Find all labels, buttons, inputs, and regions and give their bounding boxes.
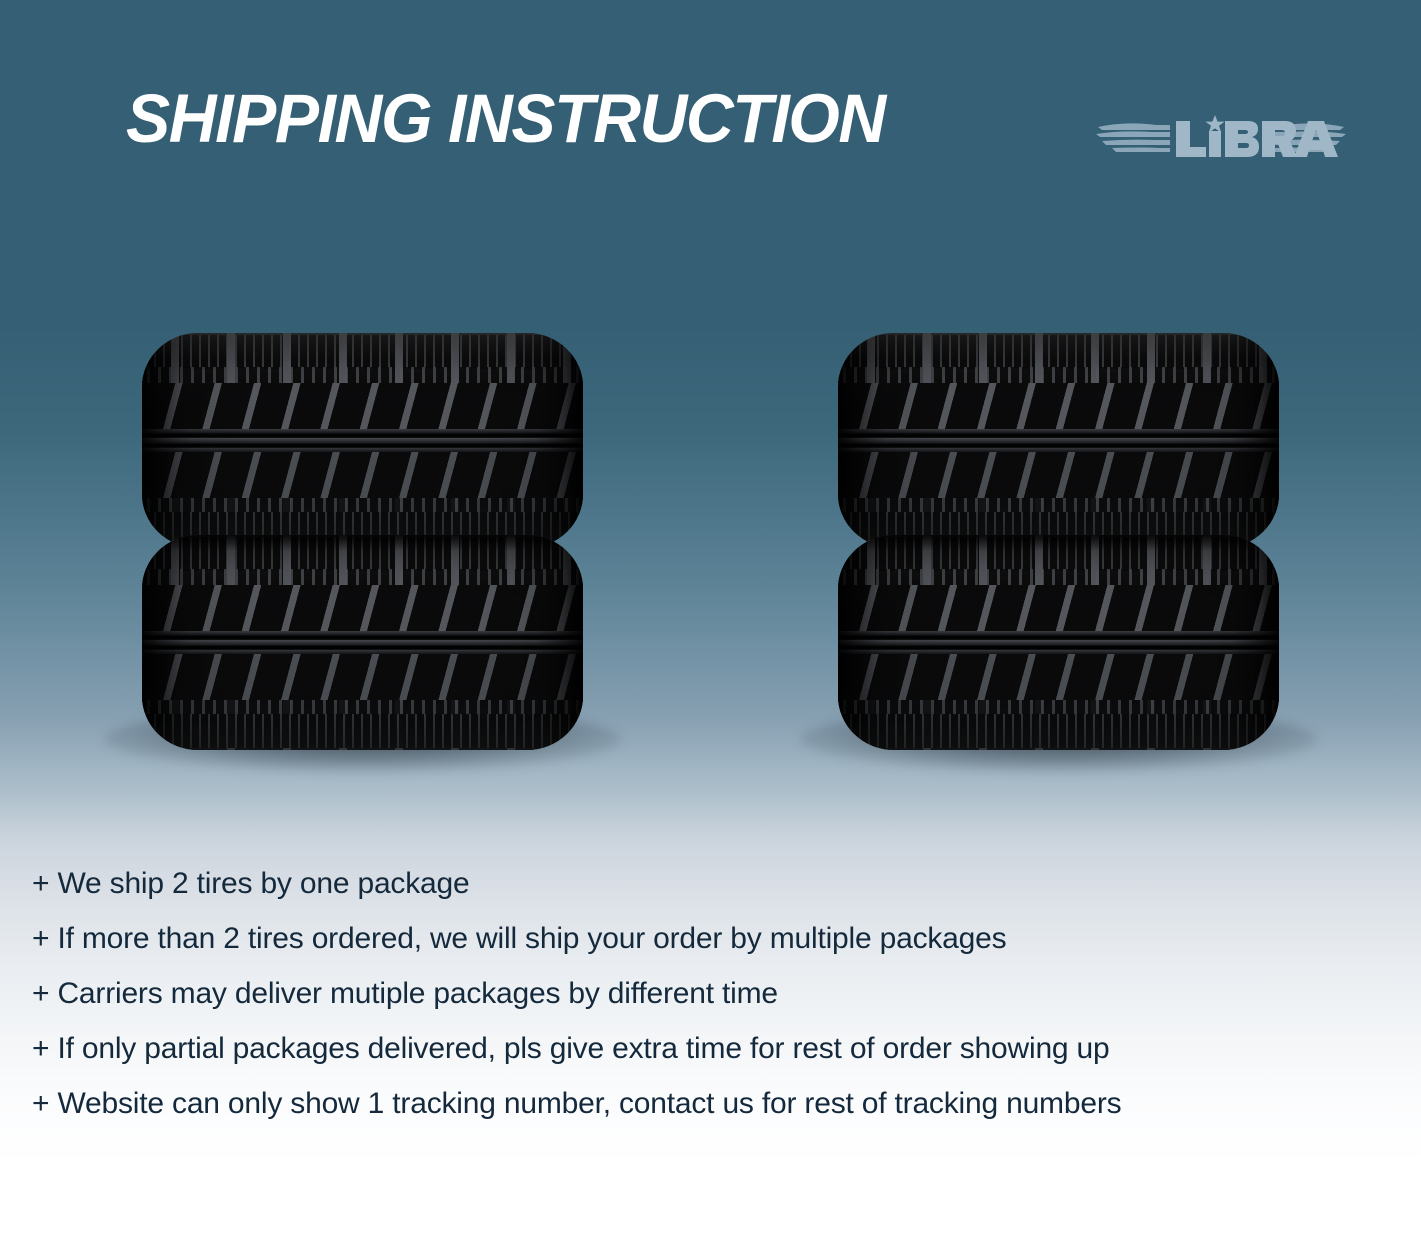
shipping-notes-list: + We ship 2 tires by one package + If mo… [32, 856, 1372, 1131]
tread-shoulder-blocks-top [838, 535, 1279, 585]
list-item: + Website can only show 1 tracking numbe… [32, 1076, 1372, 1131]
shipping-instruction-banner: SHIPPING INSTRUCTION [0, 0, 1421, 1238]
tread-center-rib-1 [142, 631, 583, 635]
tread-shoulder-blocks-top [142, 535, 583, 585]
tread-center-groove-1 [142, 636, 583, 639]
tread-slant-lower [838, 654, 1279, 700]
tire-upper [838, 333, 1279, 548]
tread-sipes-bottom [142, 714, 583, 748]
tread-slant-upper [142, 383, 583, 429]
tire-stack-right [838, 333, 1279, 750]
tread-slant-upper [838, 383, 1279, 429]
tread-shoulder-blocks-top [838, 333, 1279, 383]
tread-center-rib-2 [142, 640, 583, 645]
tread-center-rib-1 [142, 429, 583, 433]
tread-center-rib-1 [838, 631, 1279, 635]
banner-header: SHIPPING INSTRUCTION [0, 0, 1421, 210]
libra-logo [1096, 103, 1346, 175]
tread-center-rib-1 [838, 429, 1279, 433]
tire-upper [142, 333, 583, 548]
tire-lower [838, 535, 1279, 750]
tread-slant-upper [838, 585, 1279, 631]
tread-center-rib-2 [838, 438, 1279, 443]
tread-center-rib-2 [838, 640, 1279, 645]
tire-lower [142, 535, 583, 750]
tread-slant-upper [142, 585, 583, 631]
tread-center-groove-1 [142, 434, 583, 437]
tread-slant-lower [838, 452, 1279, 498]
page-title: SHIPPING INSTRUCTION [126, 84, 885, 153]
tread-center-groove-1 [838, 636, 1279, 639]
tread-slant-lower [142, 654, 583, 700]
list-item: + If only partial packages delivered, pl… [32, 1021, 1372, 1076]
tread-center-groove-2 [142, 646, 583, 649]
tread-shoulder-blocks-top [142, 333, 583, 383]
tread-center-rib-2 [142, 438, 583, 443]
tread-center-groove-2 [142, 444, 583, 447]
tread-center-groove-1 [838, 434, 1279, 437]
tread-center-groove-2 [838, 646, 1279, 649]
list-item: + Carriers may deliver mutiple packages … [32, 966, 1372, 1021]
list-item: + We ship 2 tires by one package [32, 856, 1372, 911]
tread-slant-lower [142, 452, 583, 498]
list-item: + If more than 2 tires ordered, we will … [32, 911, 1372, 966]
tread-sipes-bottom [838, 714, 1279, 748]
tire-stack-left [142, 333, 583, 750]
tread-center-groove-2 [838, 444, 1279, 447]
